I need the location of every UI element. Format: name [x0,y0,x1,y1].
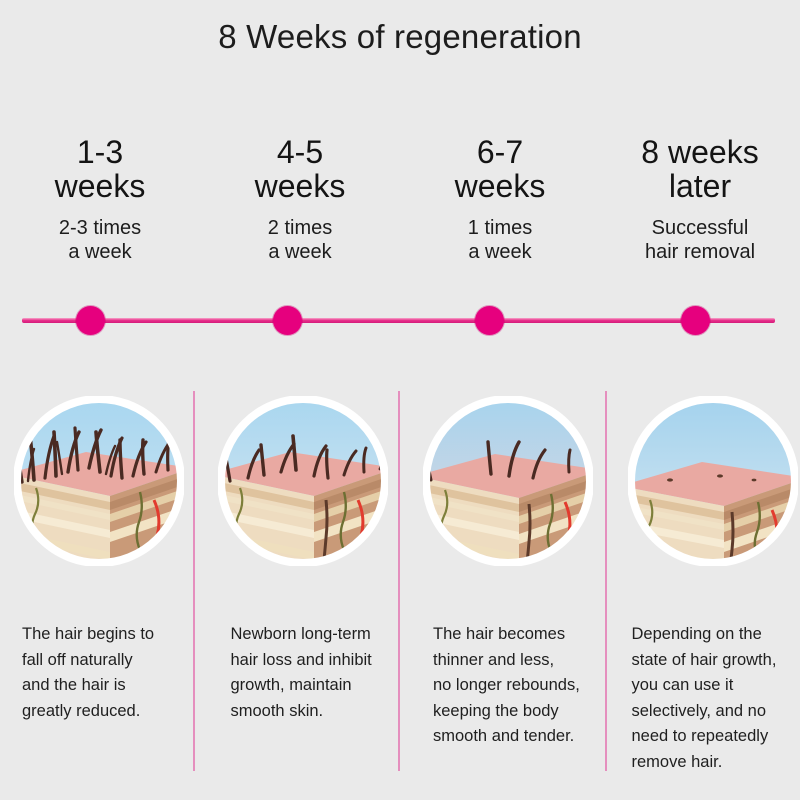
timeline-marker-1 [76,306,105,335]
stage-frequency-label: 2-3 times a week [4,216,196,265]
stage-heading-4: 8 weeks later Successful hair removal [600,136,800,301]
stage-period-label: 6-7 weeks [404,136,596,204]
stage-description-3: The hair becomes thinner and less, no lo… [405,622,604,775]
description-row: The hair begins to fall off naturally an… [0,622,800,775]
stage-frequency-label: 2 times a week [204,216,396,265]
timeline-marker-4 [681,306,710,335]
stage-description-1: The hair begins to fall off naturally an… [0,622,203,775]
stage-period-label: 1-3 weeks [4,136,196,204]
stage-description-2: Newborn long-term hair loss and inhibit … [203,622,406,775]
stage-heading-2: 4-5 weeks 2 times a week [200,136,400,301]
stage-period-label: 8 weeks later [604,136,796,204]
timeline-bar [22,318,775,323]
skin-cross-section-sparse-hair-icon [423,396,593,566]
stage-heading-3: 6-7 weeks 1 times a week [400,136,600,301]
timeline-marker-2 [273,306,302,335]
skin-cross-section-no-hair-icon [628,396,798,566]
skin-cross-section-reduced-hair-icon [218,396,388,566]
page-title: 8 Weeks of regeneration [0,18,800,56]
skin-cross-section-dense-hair-icon [14,396,184,566]
timeline-marker-3 [475,306,504,335]
stage-headings: 1-3 weeks 2-3 times a week 4-5 weeks 2 t… [0,136,800,301]
stage-period-label: 4-5 weeks [204,136,396,204]
illustration-row [0,396,800,581]
stage-heading-1: 1-3 weeks 2-3 times a week [0,136,200,301]
stage-description-4: Depending on the state of hair growth, y… [604,622,800,775]
stage-frequency-label: 1 times a week [404,216,596,265]
stage-frequency-label: Successful hair removal [604,216,796,265]
